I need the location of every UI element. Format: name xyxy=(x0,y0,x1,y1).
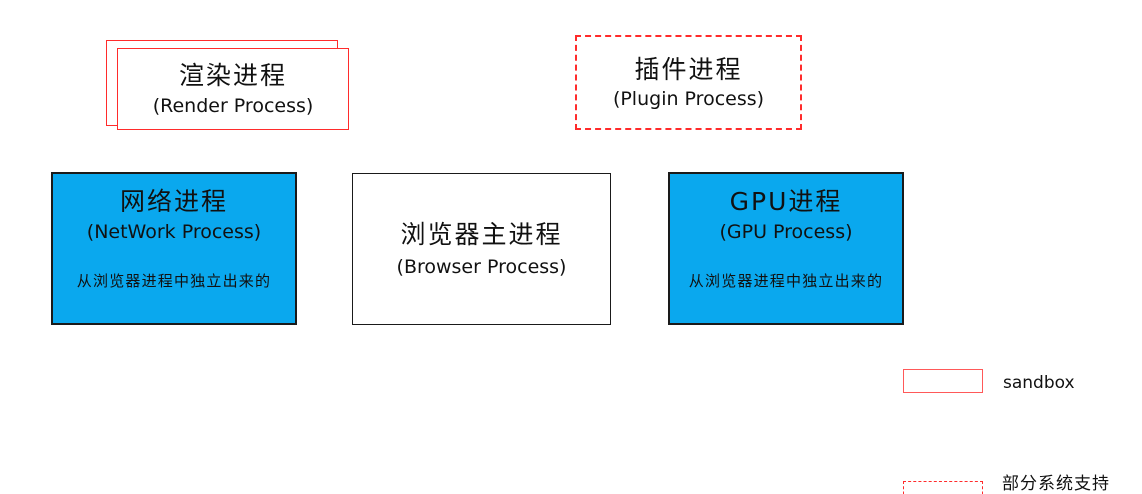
legend-dashed-rectangle-icon xyxy=(903,481,983,494)
browser-process-box[interactable]: 浏览器主进程 (Browser Process) xyxy=(352,173,611,325)
legend-solid-rectangle-icon xyxy=(903,369,983,393)
gpu-process-box[interactable]: GPU进程 (GPU Process) 从浏览器进程中独立出来的 xyxy=(668,172,904,325)
legend-label-sandbox: sandbox xyxy=(1003,372,1075,395)
network-process-title-en: (NetWork Process) xyxy=(87,221,261,245)
diagram-canvas: 渲染进程 (Render Process) 插件进程 (Plugin Proce… xyxy=(0,0,1142,494)
gpu-process-title-en: (GPU Process) xyxy=(719,221,852,245)
browser-process-title-cn: 浏览器主进程 xyxy=(400,220,562,250)
plugin-process-title-cn: 插件进程 xyxy=(634,55,742,85)
plugin-process-box[interactable]: 插件进程 (Plugin Process) xyxy=(575,35,802,130)
gpu-process-title-cn: GPU进程 xyxy=(730,187,843,217)
legend-label-partial-sandbox: 部分系统支持 sandbox xyxy=(1002,473,1110,494)
render-process-title-cn: 渲染进程 xyxy=(179,61,287,91)
legend-item-partial-sandbox: 部分系统支持 sandbox xyxy=(903,425,1110,494)
legend-label-partial-sandbox-cn: 部分系统支持 xyxy=(1002,473,1110,494)
legend-item-sandbox: sandbox xyxy=(903,369,1075,395)
browser-process-title-en: (Browser Process) xyxy=(397,256,567,280)
network-process-note: 从浏览器进程中独立出来的 xyxy=(77,270,271,291)
network-process-title-cn: 网络进程 xyxy=(120,187,228,217)
render-process-box[interactable]: 渲染进程 (Render Process) xyxy=(117,48,349,130)
network-process-box[interactable]: 网络进程 (NetWork Process) 从浏览器进程中独立出来的 xyxy=(51,172,297,325)
gpu-process-note: 从浏览器进程中独立出来的 xyxy=(689,270,883,291)
plugin-process-title-en: (Plugin Process) xyxy=(613,88,764,112)
render-process-title-en: (Render Process) xyxy=(153,95,314,119)
